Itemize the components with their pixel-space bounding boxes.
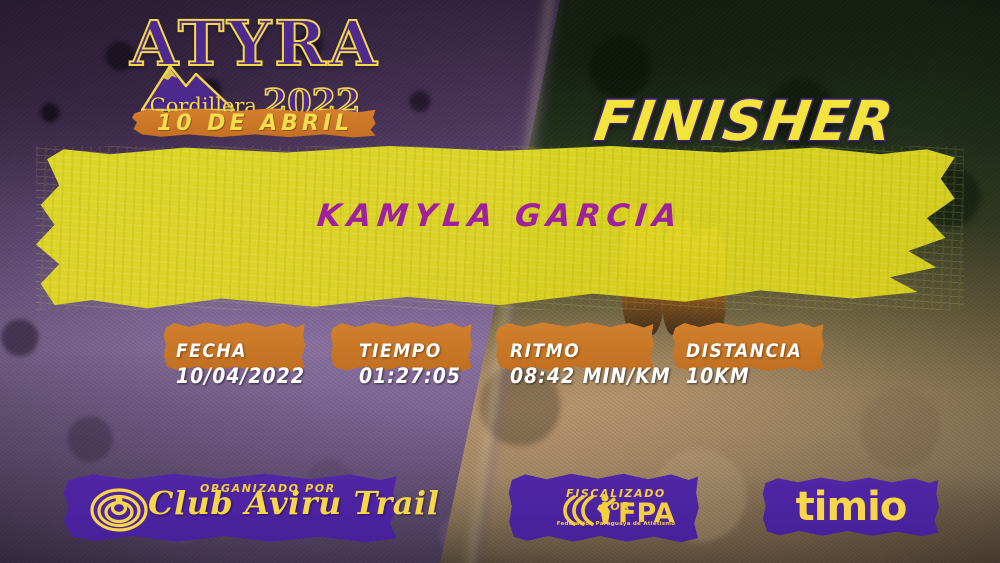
stat-value-distancia: 10KM	[686, 364, 802, 388]
stat-value-ritmo: 08:42 MIN/KM	[510, 364, 671, 388]
stat-tiempo: TIEMPO 01:27:05	[359, 340, 461, 388]
organizer-name: Club Aviru Trail	[148, 484, 439, 522]
stat-label-ritmo: RITMO	[510, 340, 671, 362]
stat-label-distancia: DISTANCIA	[686, 340, 802, 362]
event-date-label: 10 DE ABRIL	[157, 111, 353, 136]
stat-value-tiempo: 01:27:05	[359, 364, 461, 388]
stats-row: FECHA 10/04/2022 TIEMPO 01:27:05 RITMO 0…	[0, 322, 1000, 394]
finisher-badge-label: FINISHER	[591, 94, 897, 149]
finisher-certificate: ATYRA Cordillera 2022 10 DE ABRIL FINISH…	[0, 0, 1000, 563]
spiral-swirl-icon	[88, 484, 150, 534]
athlete-name: KAMYLA GARCIA	[0, 198, 1000, 234]
stat-value-fecha: 10/04/2022	[176, 364, 305, 388]
event-date-banner: 10 DE ABRIL	[132, 108, 378, 138]
sanctioner-subtitle: Federación Paraguaya de Atletismo	[556, 521, 676, 527]
stat-distancia: DISTANCIA 10KM	[686, 340, 802, 388]
stat-ritmo: RITMO 08:42 MIN/KM	[510, 340, 671, 388]
stat-fecha: FECHA 10/04/2022	[176, 340, 305, 388]
stat-label-fecha: FECHA	[176, 340, 305, 362]
stat-label-tiempo: TIEMPO	[359, 340, 461, 362]
timing-name: timio	[762, 477, 940, 537]
